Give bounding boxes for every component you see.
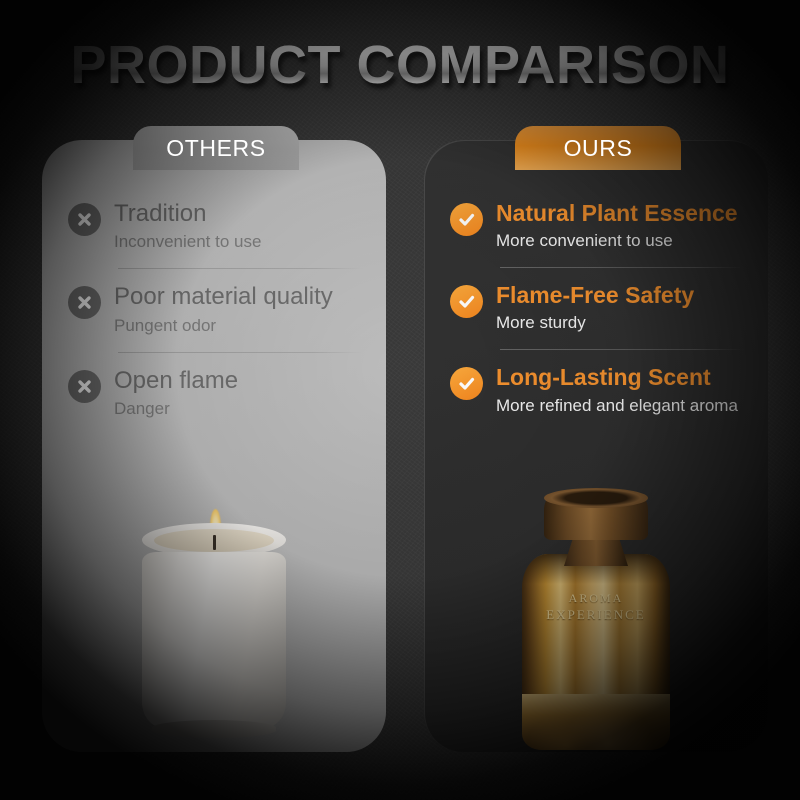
jar-base <box>152 720 276 738</box>
comparison-panel-others: Tradition Inconvenient to use Poor mater… <box>42 140 386 752</box>
list-item: Flame-Free Safety More sturdy <box>424 282 768 350</box>
x-circle-icon <box>68 286 101 319</box>
wood-cap-top <box>544 488 648 508</box>
ours-product-image: AROMA EXPERIENCE <box>424 482 768 752</box>
white-ceramic-candle <box>134 523 294 738</box>
amber-glass-body <box>522 554 670 750</box>
botanical-contents <box>522 694 670 750</box>
list-item-subtitle: Pungent odor <box>114 315 333 337</box>
list-item-subtitle: Inconvenient to use <box>114 231 261 253</box>
page-title: PRODUCT COMPARISON <box>0 38 800 92</box>
comparison-panel-ours: Natural Plant Essence More convenient to… <box>424 140 768 752</box>
x-circle-icon <box>68 370 101 403</box>
check-circle-icon <box>450 285 483 318</box>
amber-glass-reed-diffuser: AROMA EXPERIENCE <box>510 488 682 750</box>
tab-others[interactable]: OTHERS <box>133 126 299 170</box>
bottle-label: AROMA EXPERIENCE <box>510 590 682 624</box>
list-divider <box>118 352 362 353</box>
list-item: Poor material quality Pungent odor <box>42 283 386 352</box>
list-item: Natural Plant Essence More convenient to… <box>424 200 768 268</box>
list-item-title: Tradition <box>114 200 261 228</box>
list-divider <box>500 349 744 350</box>
list-item-title: Open flame <box>114 367 238 395</box>
tab-ours-label: OURS <box>564 135 633 162</box>
list-item: Long-Lasting Scent More refined and eleg… <box>424 364 768 416</box>
wick <box>213 535 216 550</box>
x-circle-icon <box>68 203 101 236</box>
list-item-subtitle: Danger <box>114 398 238 420</box>
list-item: Tradition Inconvenient to use <box>42 200 386 269</box>
check-circle-icon <box>450 203 483 236</box>
list-item: Open flame Danger <box>42 367 386 420</box>
check-circle-icon <box>450 367 483 400</box>
others-feature-list: Tradition Inconvenient to use Poor mater… <box>42 200 386 420</box>
list-item-title: Poor material quality <box>114 283 333 311</box>
list-item-title: Flame-Free Safety <box>496 282 694 309</box>
list-item-title: Natural Plant Essence <box>496 200 738 227</box>
ours-feature-list: Natural Plant Essence More convenient to… <box>424 200 768 417</box>
bottle-label-line2: EXPERIENCE <box>510 606 682 624</box>
bottle-label-line1: AROMA <box>510 590 682 606</box>
others-product-image <box>42 482 386 752</box>
tab-ours[interactable]: OURS <box>515 126 681 170</box>
tab-others-label: OTHERS <box>166 135 265 162</box>
ceramic-jar <box>142 552 286 728</box>
list-divider <box>118 268 362 269</box>
list-item-subtitle: More refined and elegant aroma <box>496 395 738 417</box>
list-item-title: Long-Lasting Scent <box>496 364 738 391</box>
list-divider <box>500 267 744 268</box>
list-item-subtitle: More sturdy <box>496 312 694 334</box>
list-item-subtitle: More convenient to use <box>496 230 738 252</box>
